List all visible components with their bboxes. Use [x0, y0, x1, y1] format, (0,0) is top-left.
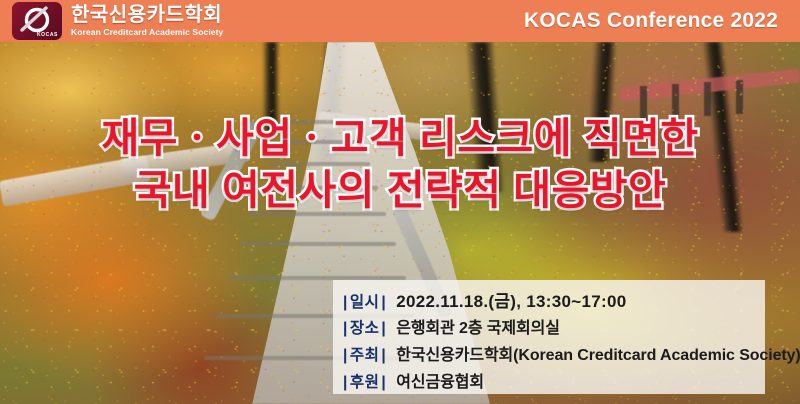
- kocas-ring-logo-icon: KOCAS: [12, 2, 62, 40]
- detail-label-host: |주최|: [341, 343, 388, 365]
- org-name-ko: 한국신용카드학회: [71, 5, 223, 25]
- detail-row-date: |일시| 2022.11.18.(금), 13:30~17:00: [341, 287, 765, 313]
- society-logo[interactable]: KOCAS 한국신용카드학회 Korean Creditcard Academi…: [12, 2, 223, 40]
- org-name-en: Korean Creditcard Academic Society: [71, 28, 223, 37]
- detail-label-venue: |장소|: [341, 316, 388, 338]
- detail-label-date: |일시|: [341, 290, 388, 312]
- header-bar: KOCAS 한국신용카드학회 Korean Creditcard Academi…: [0, 0, 800, 42]
- event-details-panel: |일시| 2022.11.18.(금), 13:30~17:00 |장소| 은행…: [333, 280, 765, 394]
- conference-poster: KOCAS 한국신용카드학회 Korean Creditcard Academi…: [0, 0, 800, 404]
- logo-badge-text: KOCAS: [37, 32, 58, 38]
- detail-value-sponsor: 여신금융협회: [396, 368, 484, 392]
- detail-label-sponsor: |후원|: [341, 370, 388, 392]
- detail-row-venue: |장소| 은행회관 2층 국제회의실: [341, 314, 765, 340]
- detail-value-host: 한국신용카드학회(Korean Creditcard Academic Soci…: [396, 341, 800, 365]
- conference-label: KOCAS Conference 2022: [524, 9, 778, 33]
- detail-row-sponsor: |후원| 여신금융협회: [341, 368, 765, 394]
- detail-value-venue: 은행회관 2층 국제회의실: [396, 314, 560, 338]
- detail-value-date: 2022.11.18.(금), 13:30~17:00: [396, 287, 626, 312]
- detail-row-host: |주최| 한국신용카드학회(Korean Creditcard Academic…: [341, 341, 765, 367]
